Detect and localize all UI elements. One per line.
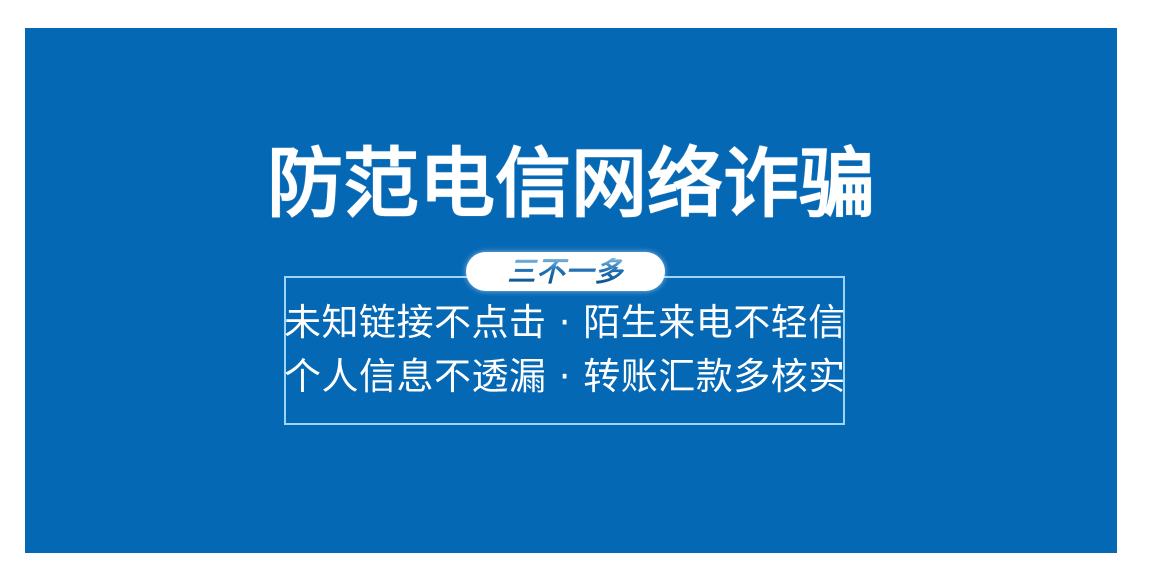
slogan-badge: 三不一多 bbox=[466, 252, 665, 291]
poster-title: 防范电信网络诈骗 bbox=[25, 146, 1117, 222]
poster-canvas: 防范电信网络诈骗 三不一多 未知链接不点击 · 陌生来电不轻信 个人信息不透漏 … bbox=[0, 0, 1163, 587]
slogan-badge-label: 三不一多 bbox=[507, 258, 623, 286]
slogan-line-2: 个人信息不透漏 · 转账汇款多核实 bbox=[284, 350, 845, 404]
slogan-line-1: 未知链接不点击 · 陌生来电不轻信 bbox=[284, 296, 845, 350]
poster-blue-panel: 防范电信网络诈骗 三不一多 未知链接不点击 · 陌生来电不轻信 个人信息不透漏 … bbox=[25, 28, 1117, 553]
slogan-list: 未知链接不点击 · 陌生来电不轻信 个人信息不透漏 · 转账汇款多核实 bbox=[284, 296, 845, 404]
